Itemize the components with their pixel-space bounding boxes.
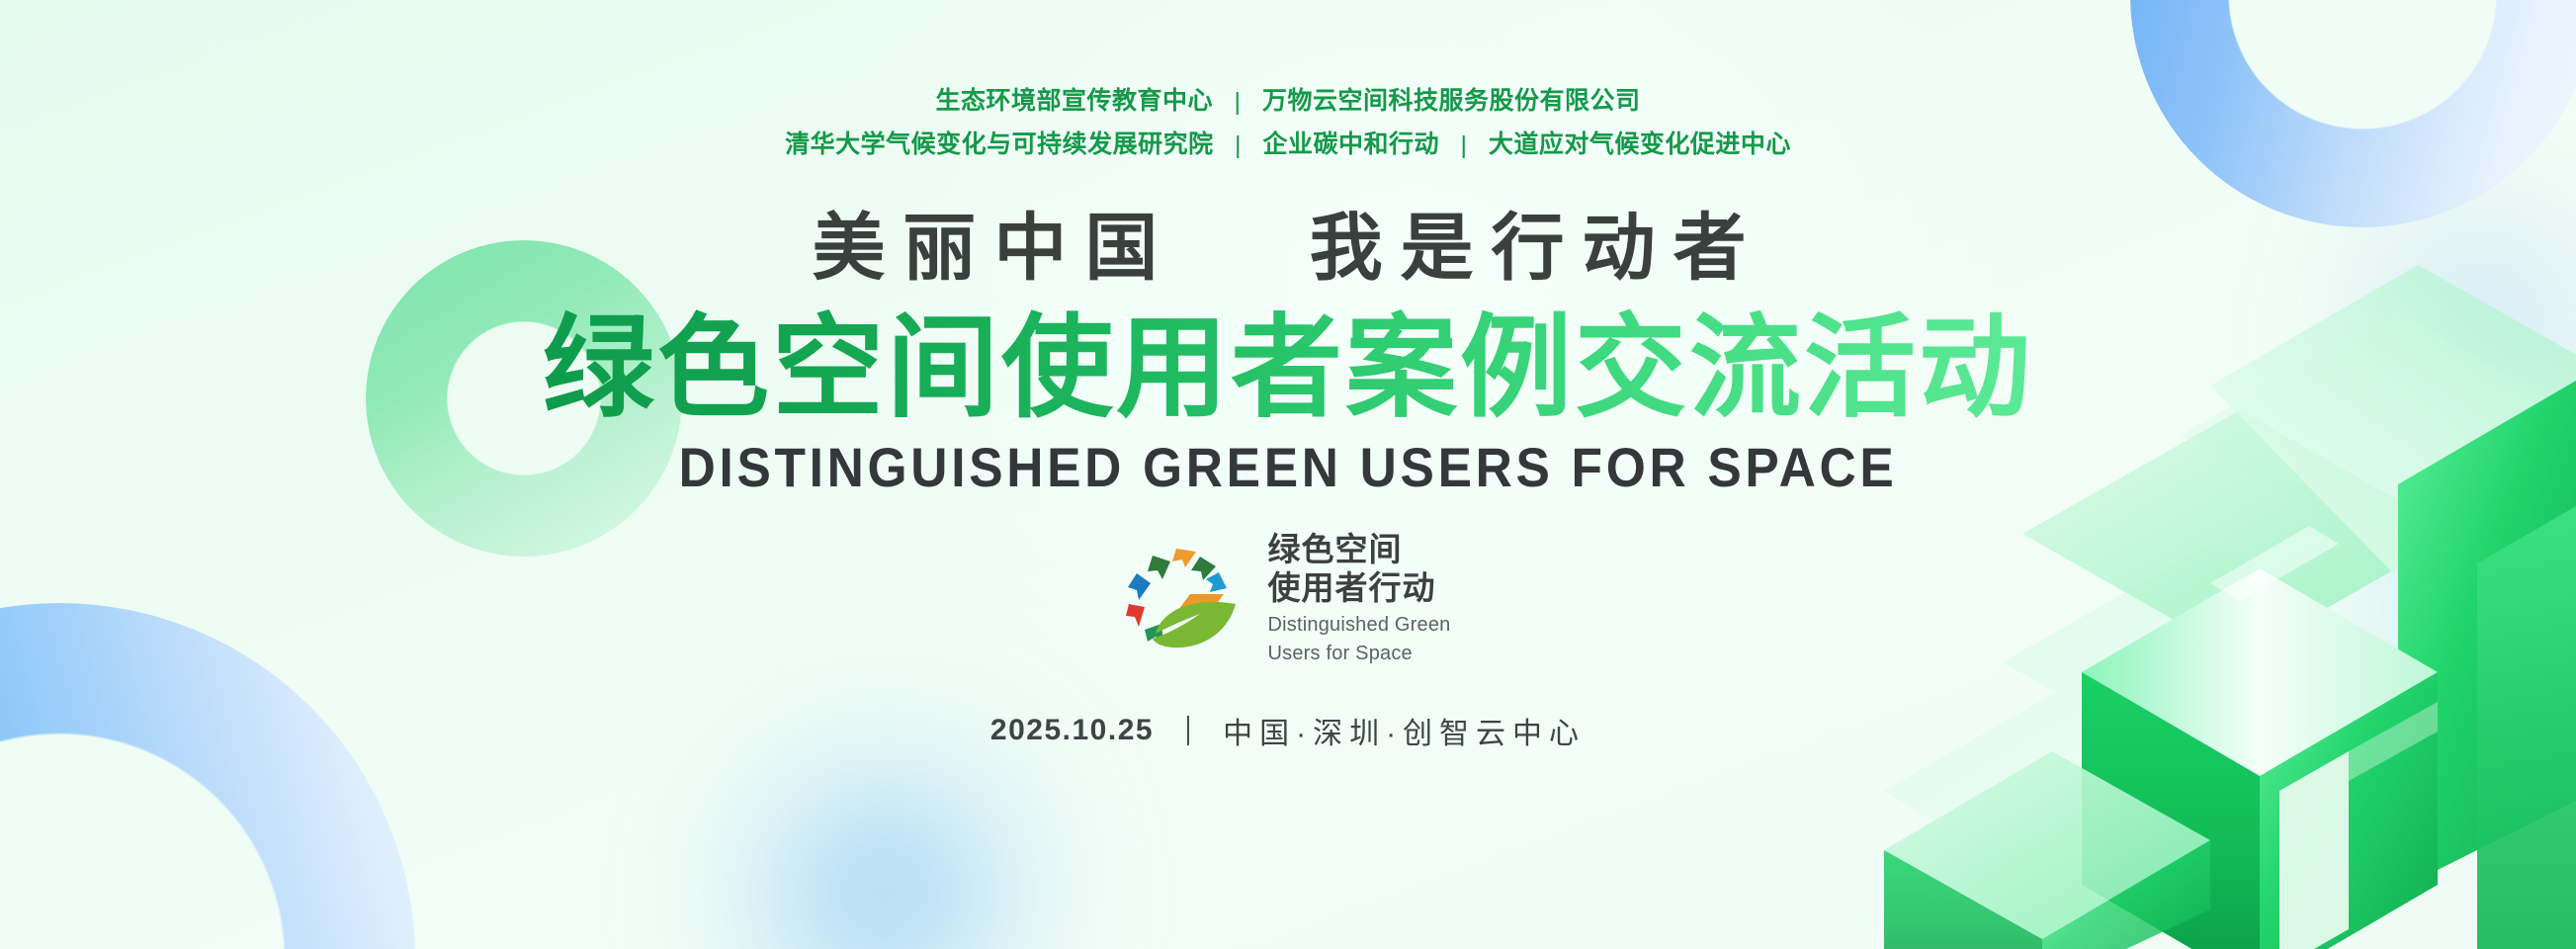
event-date: 2025.10.25 <box>990 714 1154 747</box>
organizer-line-1: 生态环境部宣传教育中心 | 万物云空间科技服务股份有限公司 <box>936 81 1641 121</box>
logo-en-line-1: Distinguished Green <box>1267 613 1450 637</box>
slogan-part-2: 我是行动者 <box>1310 207 1764 289</box>
event-location: 中国·深圳·创智云中心 <box>1223 709 1586 752</box>
green-space-user-leaf-emblem-icon <box>1125 543 1245 653</box>
event-title-cn: 绿色空间使用者案例交流活动 <box>543 306 2033 429</box>
organizer-5: 大道应对气候变化促进中心 <box>1489 130 1791 158</box>
program-logo-lockup: 绿色空间 使用者行动 Distinguished Green Users for… <box>1125 531 1450 665</box>
event-title-en: DISTINGUISHED GREEN USERS FOR SPACE <box>679 439 1898 497</box>
logo-en-line-2: Users for Space <box>1267 642 1450 665</box>
slogan-part-1: 美丽中国 <box>812 207 1175 289</box>
organizer-1: 生态环境部宣传教育中心 <box>936 87 1214 115</box>
organizer-separator: | <box>1235 82 1242 122</box>
organizer-separator: | <box>1460 126 1467 165</box>
campaign-slogan: 美丽中国 我是行动者 <box>812 212 1763 285</box>
banner-content: 生态环境部宣传教育中心 | 万物云空间科技服务股份有限公司 清华大学气候变化与可… <box>0 0 2576 949</box>
organizer-separator: | <box>1235 126 1242 165</box>
program-logo-text: 绿色空间 使用者行动 Distinguished Green Users for… <box>1267 531 1450 665</box>
organizer-line-2: 清华大学气候变化与可持续发展研究院 | 企业碳中和行动 | 大道应对气候变化促进… <box>785 125 1791 164</box>
footer-divider <box>1187 716 1189 745</box>
event-datetime-location: 2025.10.25 中国·深圳·创智云中心 <box>990 709 1586 752</box>
organizer-4: 企业碳中和行动 <box>1262 130 1439 158</box>
event-banner: 生态环境部宣传教育中心 | 万物云空间科技服务股份有限公司 清华大学气候变化与可… <box>0 0 2576 949</box>
organizer-2: 万物云空间科技服务股份有限公司 <box>1262 87 1641 115</box>
logo-cn-line-1: 绿色空间 <box>1267 531 1450 569</box>
logo-cn-line-2: 使用者行动 <box>1267 569 1450 608</box>
organizer-3: 清华大学气候变化与可持续发展研究院 <box>785 130 1214 158</box>
